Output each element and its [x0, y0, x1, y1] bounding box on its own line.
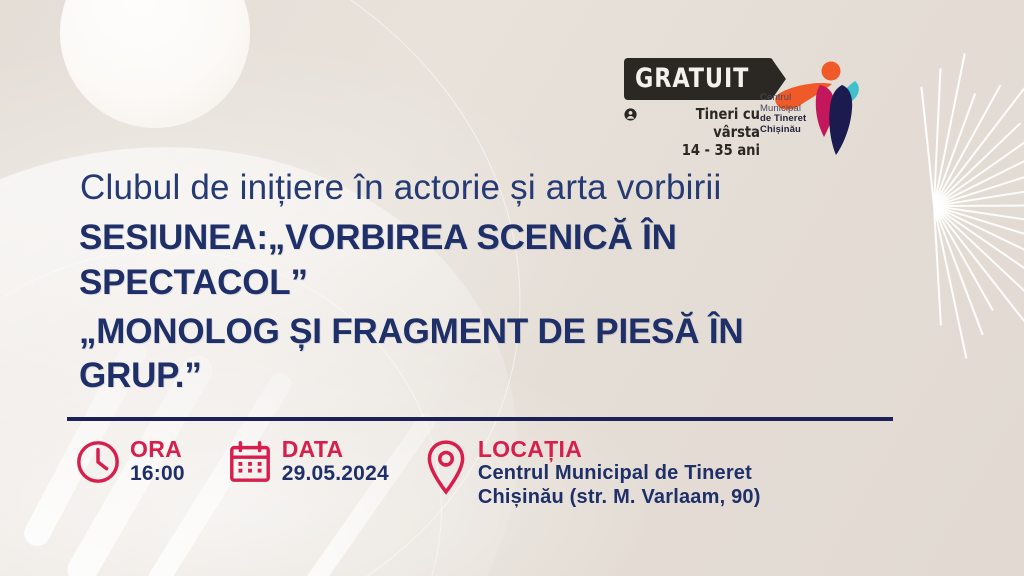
map-pin-icon: [423, 439, 469, 500]
cmt-logo-line-4: Chișinău: [760, 125, 824, 136]
detail-date-value: 29.05.2024: [282, 462, 389, 485]
event-details: ORA 16:00 DATA 29.05.2024: [75, 437, 761, 509]
detail-location: LOCAȚIA Centrul Municipal de Tineret Chi…: [423, 437, 761, 509]
cmt-logo: Centrul Municipal de Tineret Chișinău: [760, 55, 870, 165]
detail-date-label: DATA: [282, 436, 344, 462]
circle-blob: [60, 0, 250, 128]
age-line-2: 14 - 35 ani: [682, 141, 760, 159]
event-poster: GRATUIT Tineri cu vârsta 14 - 35 ani: [0, 0, 1024, 576]
detail-time-text: ORA 16:00: [130, 437, 185, 487]
calendar-icon: [227, 439, 273, 490]
divider: [67, 417, 893, 421]
clock-icon: [75, 439, 121, 490]
headline-line-3: „MONOLOG ȘI FRAGMENT DE PIESĂ ÎN: [79, 310, 909, 355]
detail-location-text: LOCAȚIA Centrul Municipal de Tineret Chi…: [478, 437, 761, 509]
headline-line-2: SPECTACOL”: [79, 261, 909, 306]
detail-time: ORA 16:00: [75, 437, 185, 490]
cmt-logo-text: Centrul Municipal de Tineret Chișinău: [760, 93, 824, 136]
detail-location-value-2: Chișinău (str. M. Varlaam, 90): [478, 486, 761, 508]
poster-headline: SESIUNEA:„VORBIREA SCENICĂ ÎN SPECTACOL”…: [79, 216, 909, 399]
headline-line-4: GRUP.”: [79, 354, 909, 399]
detail-location-label: LOCAȚIA: [478, 436, 582, 462]
headline-line-1: SESIUNEA:„VORBIREA SCENICĂ ÎN: [79, 216, 909, 261]
person-icon: [624, 108, 637, 121]
detail-time-value: 16:00: [130, 462, 185, 485]
detail-date: DATA 29.05.2024: [227, 437, 389, 490]
free-badge-label: GRATUIT: [624, 58, 773, 100]
detail-location-value-1: Centrul Municipal de Tineret: [478, 462, 752, 484]
detail-time-label: ORA: [130, 436, 182, 462]
age-text: Tineri cu vârsta 14 - 35 ani: [649, 106, 760, 159]
detail-date-text: DATA 29.05.2024: [282, 437, 389, 487]
poster-subtitle: Clubul de inițiere în actorie și arta vo…: [80, 168, 721, 208]
age-line-1: Tineri cu vârsta: [696, 105, 760, 141]
